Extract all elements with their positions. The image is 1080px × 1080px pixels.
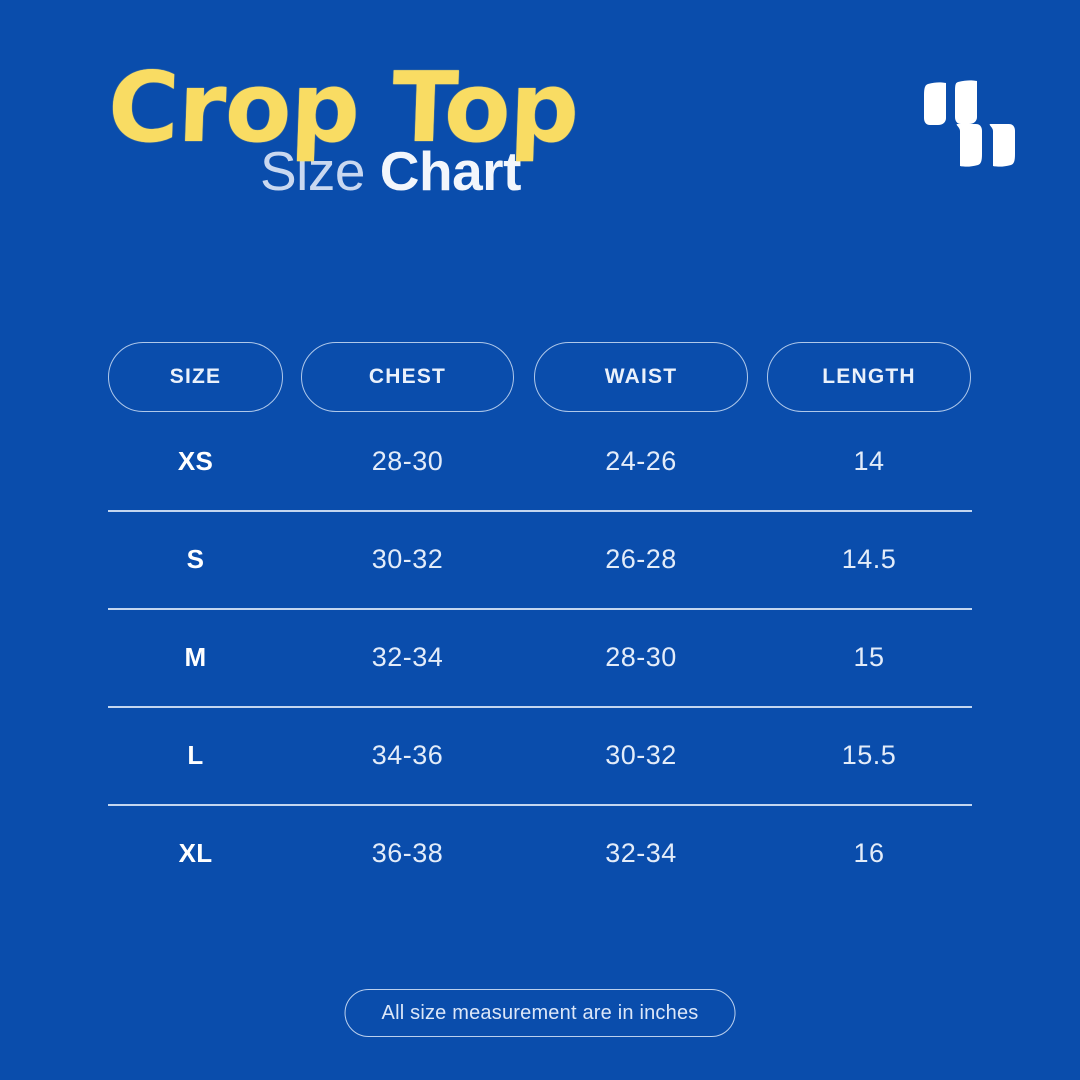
title-main: Crop Top — [106, 62, 729, 154]
table-row: XL 36-38 32-34 16 — [108, 804, 972, 902]
measurement-units-note: All size measurement are in inches — [345, 989, 736, 1037]
quotation-marks-icon — [922, 78, 1018, 170]
table-row: M 32-34 28-30 15 — [108, 608, 972, 706]
page-title: Crop Top Size Chart — [108, 62, 728, 199]
cell-size: S — [108, 544, 283, 575]
cell-waist: 28-30 — [534, 642, 748, 673]
table-row: XS 28-30 24-26 14 — [108, 412, 972, 510]
cell-size: M — [108, 642, 283, 673]
cell-waist: 24-26 — [534, 446, 748, 477]
cell-size: L — [108, 740, 283, 771]
cell-size: XL — [108, 838, 283, 869]
table-body: XS 28-30 24-26 14 S 30-32 26-28 14.5 M 3… — [108, 412, 972, 902]
cell-waist: 32-34 — [534, 838, 748, 869]
cell-length: 15 — [767, 642, 971, 673]
size-chart-table: SIZE CHEST WAIST LENGTH XS 28-30 24-26 1… — [108, 342, 972, 902]
cell-chest: 32-34 — [301, 642, 514, 673]
cell-length: 14 — [767, 446, 971, 477]
cell-waist: 26-28 — [534, 544, 748, 575]
column-header-chest: CHEST — [301, 342, 514, 412]
cell-chest: 28-30 — [301, 446, 514, 477]
column-header-size: SIZE — [108, 342, 283, 412]
cell-length: 15.5 — [767, 740, 971, 771]
cell-length: 14.5 — [767, 544, 971, 575]
cell-chest: 30-32 — [301, 544, 514, 575]
cell-chest: 36-38 — [301, 838, 514, 869]
brand-logo — [922, 78, 1018, 170]
table-row: L 34-36 30-32 15.5 — [108, 706, 972, 804]
cell-length: 16 — [767, 838, 971, 869]
table-header-row: SIZE CHEST WAIST LENGTH — [108, 342, 972, 412]
table-row: S 30-32 26-28 14.5 — [108, 510, 972, 608]
cell-waist: 30-32 — [534, 740, 748, 771]
cell-chest: 34-36 — [301, 740, 514, 771]
column-header-length: LENGTH — [767, 342, 971, 412]
column-header-waist: WAIST — [534, 342, 748, 412]
cell-size: XS — [108, 446, 283, 477]
